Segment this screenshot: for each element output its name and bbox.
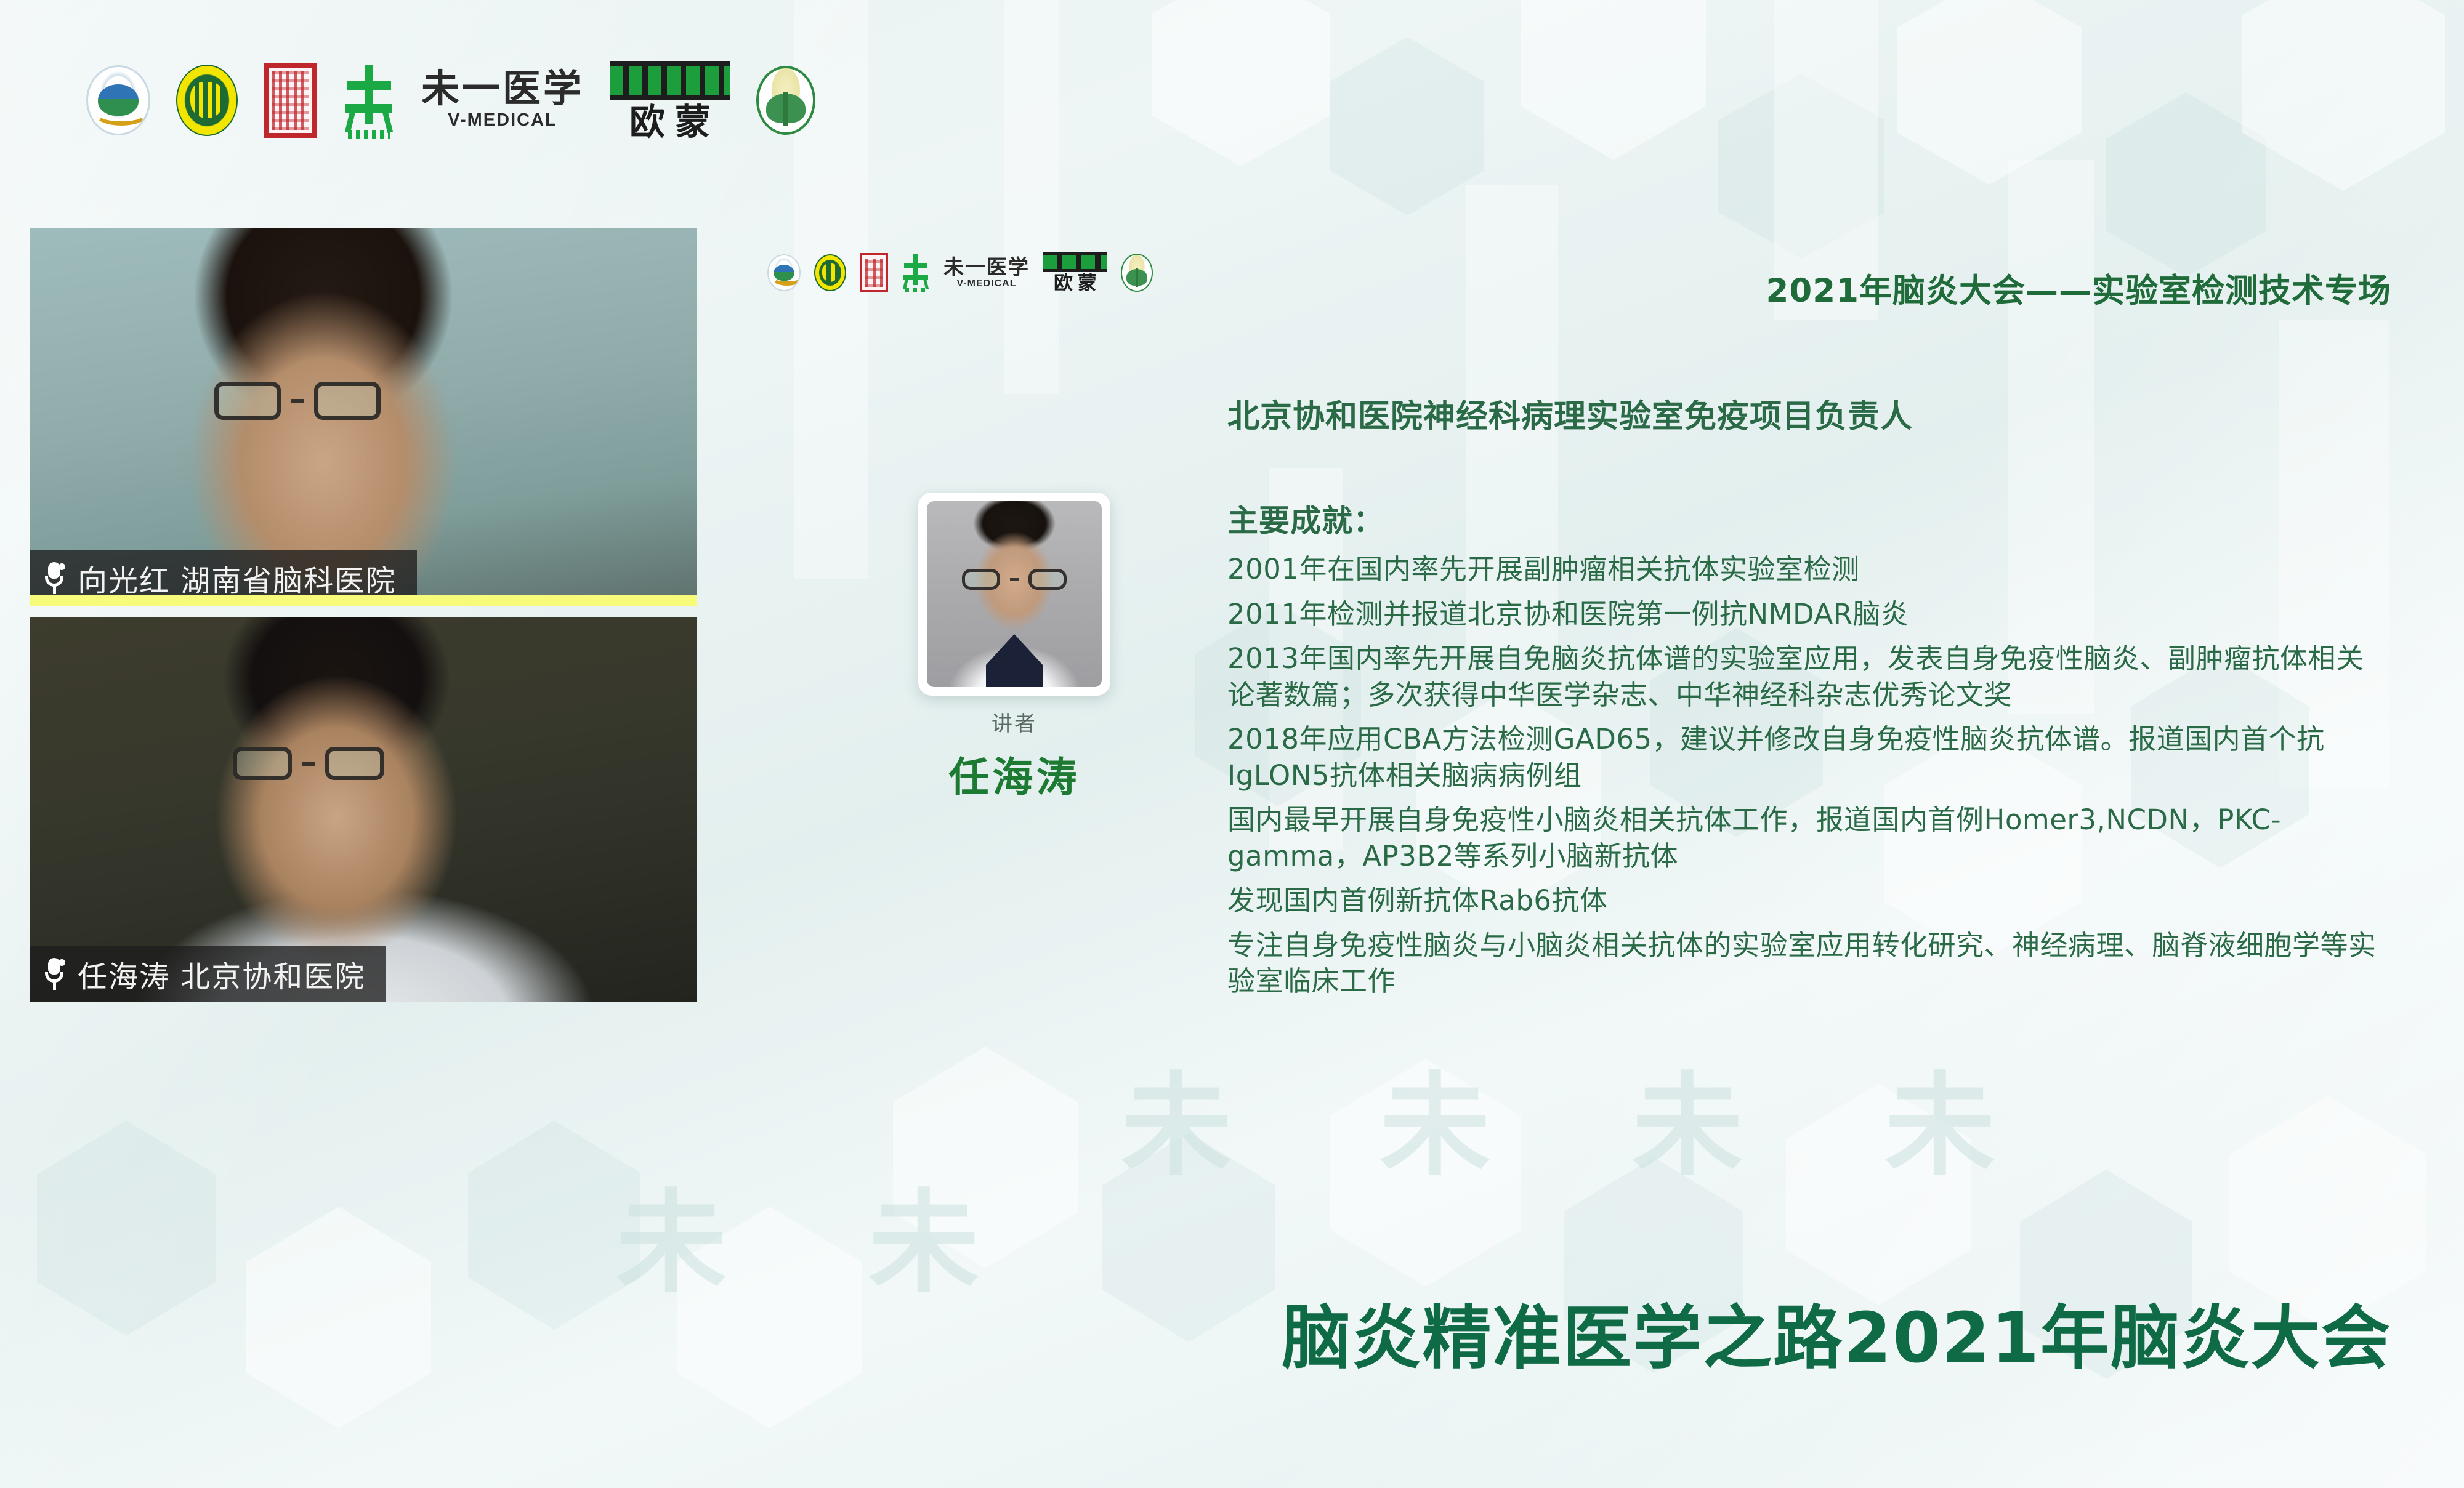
euroimmun-logo: 欧蒙 xyxy=(610,61,730,140)
video-tile-participant-2[interactable]: 任海涛 北京协和医院 xyxy=(30,617,697,1002)
speaker-name: 任海涛 xyxy=(949,744,1080,803)
leaf-oval-seal-icon xyxy=(1121,254,1153,292)
achievement-item: 2018年应用CBA方法检测GAD65，建议并修改自身免疫性脑炎抗体谱。报道国内… xyxy=(1227,722,2379,794)
achievements-block: 主要成就： 2001年在国内率先开展副肿瘤相关抗体实验室检测 2011年检测并报… xyxy=(1227,496,2379,1008)
watermark-glyph: 未 xyxy=(1121,1071,1232,1182)
speaker-card: 讲者 任海涛 xyxy=(913,493,1116,803)
participant-name-2: 任海涛 北京协和医院 xyxy=(78,952,365,995)
collar-shape xyxy=(986,634,1043,687)
wei-mark-icon xyxy=(342,63,395,137)
achievement-item: 发现国内首例新抗体Rab6抗体 xyxy=(1227,883,2379,919)
wei-mark-icon xyxy=(902,254,930,292)
microphone-icon xyxy=(44,958,65,990)
euroimmun-logo: 欧蒙 xyxy=(1043,252,1107,293)
video-tile-participant-1[interactable]: 向光红 湖南省脑科医院 xyxy=(30,228,697,606)
achievement-item: 国内最早开展自身免疫性小脑炎相关抗体工作，报道国内首例Homer3,NCDN，P… xyxy=(1227,802,2379,874)
eyeglasses-icon xyxy=(214,382,381,420)
euroimmun-cn: 欧蒙 xyxy=(1049,274,1102,293)
video-feed-2 xyxy=(30,617,697,1002)
wei-yi-medical-en: V-MEDICAL xyxy=(448,110,557,131)
speaker-portrait xyxy=(918,493,1110,696)
euroimmun-roof-icon xyxy=(610,61,730,100)
conference-bottom-title: 脑炎精准医学之路2021年脑炎大会 xyxy=(1282,1282,2391,1382)
achievement-item: 2013年国内率先开展自免脑炎抗体谱的实验室应用，发表自身免疫性脑炎、副肿瘤抗体… xyxy=(1227,641,2379,713)
achievement-item: 专注自身免疫性脑炎与小脑炎相关抗体的实验室应用转化研究、神经病理、脑脊液细胞学等… xyxy=(1227,928,2379,1000)
green-brain-seal-icon xyxy=(814,254,846,291)
eyeglasses-icon xyxy=(233,747,384,780)
wei-yi-medical-logo: 未一医学 V-MEDICAL xyxy=(943,257,1030,289)
leaf-oval-seal-icon xyxy=(756,66,815,135)
red-rectangular-seal-icon xyxy=(860,253,888,292)
speaker-affiliation: 北京协和医院神经科病理实验室免疫项目负责人 xyxy=(1227,390,1913,436)
blue-globe-seal-icon xyxy=(86,65,150,135)
green-brain-seal-icon xyxy=(176,65,238,136)
slide-logo-strip: 未一医学 V-MEDICAL 欧蒙 xyxy=(767,251,1153,294)
wei-yi-medical-cn: 未一医学 xyxy=(943,257,1030,277)
wei-yi-medical-cn: 未一医学 xyxy=(421,70,584,108)
slide-event-title: 2021年脑炎大会——实验室检测技术专场 xyxy=(1766,265,2391,312)
active-speaker-indicator xyxy=(30,595,697,606)
blue-globe-seal-icon xyxy=(767,254,801,291)
red-rectangular-seal-icon xyxy=(264,63,317,138)
achievement-item: 2001年在国内率先开展副肿瘤相关抗体实验室检测 xyxy=(1227,552,2379,588)
watermark-glyph: 未 xyxy=(868,1188,979,1299)
watermark-glyph: 未 xyxy=(1379,1071,1490,1182)
participant-label-2: 任海涛 北京协和医院 xyxy=(30,946,386,1002)
video-participant-stack[interactable]: 向光红 湖南省脑科医院 任海涛 北京协和医院 xyxy=(30,228,697,1002)
euroimmun-roof-icon xyxy=(1043,252,1107,272)
header-logo-strip: 未一医学 V-MEDICAL 欧蒙 xyxy=(86,58,815,142)
microphone-icon xyxy=(44,562,65,594)
watermark-glyph: 未 xyxy=(1884,1071,1995,1182)
speaker-role-label: 讲者 xyxy=(992,707,1037,737)
wei-yi-medical-logo: 未一医学 V-MEDICAL xyxy=(421,70,584,131)
achievements-heading: 主要成就： xyxy=(1227,496,2379,541)
participant-name-1: 向光红 湖南省脑科医院 xyxy=(78,557,396,600)
achievement-item: 2011年检测并报道北京协和医院第一例抗NMDAR脑炎 xyxy=(1227,597,2379,633)
euroimmun-cn: 欧蒙 xyxy=(620,104,721,140)
watermark-glyph: 未 xyxy=(616,1188,727,1299)
face-detail-2 xyxy=(30,617,697,1002)
watermark-glyph: 未 xyxy=(1632,1071,1743,1182)
wei-yi-medical-en: V-MEDICAL xyxy=(957,278,1017,289)
eyeglasses-icon xyxy=(962,569,1067,590)
